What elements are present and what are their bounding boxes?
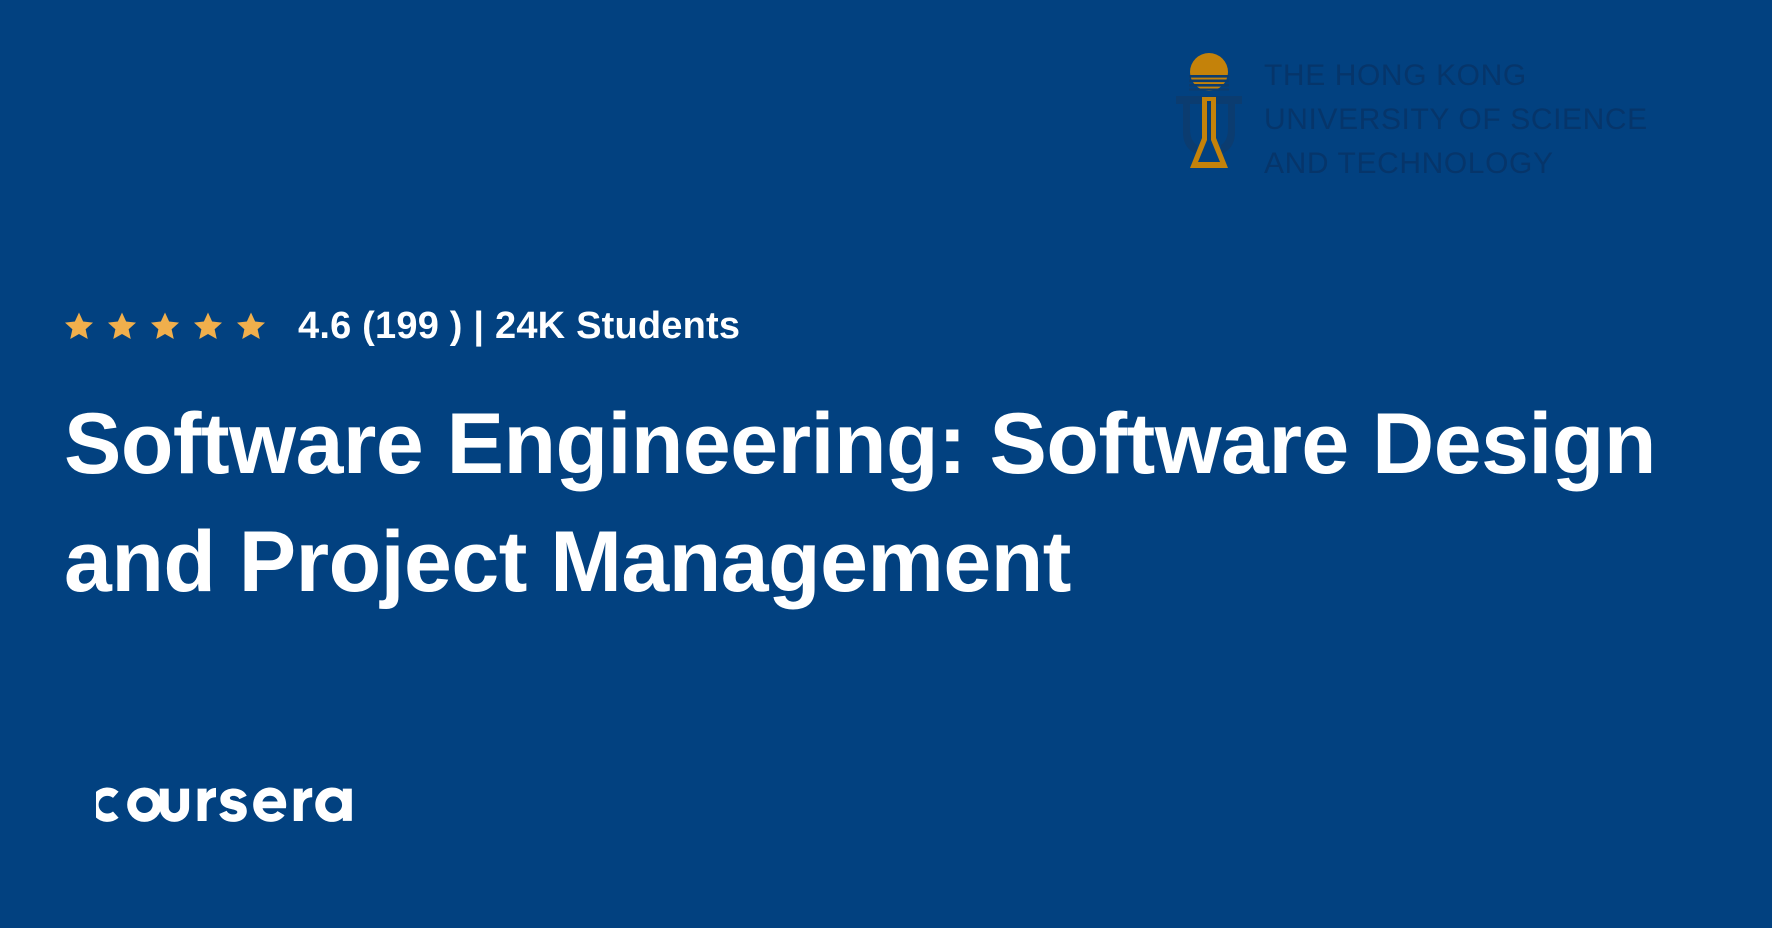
course-banner: THE HONG KONG UNIVERSITY OF SCIENCE AND … (0, 0, 1772, 928)
course-title: Software Engineering: Software Design an… (64, 385, 1674, 621)
star-icon (107, 311, 137, 341)
university-wordmark-line-2: UNIVERSITY OF SCIENCE (1264, 98, 1648, 142)
rating-row: 4.6 (199 ) | 24K Students (64, 303, 740, 349)
university-wordmark: THE HONG KONG UNIVERSITY OF SCIENCE AND … (1264, 48, 1648, 186)
star-icon (150, 311, 180, 341)
university-logo: THE HONG KONG UNIVERSITY OF SCIENCE AND … (1172, 48, 1652, 180)
star-icon (193, 311, 223, 341)
star-icon (64, 311, 94, 341)
university-wordmark-line-1: THE HONG KONG (1264, 54, 1648, 98)
university-wordmark-line-3: AND TECHNOLOGY (1264, 142, 1648, 186)
hkust-emblem-icon (1172, 48, 1246, 180)
coursera-wordmark-icon[interactable] (96, 777, 358, 825)
rating-summary-text: 4.6 (199 ) | 24K Students (298, 303, 740, 349)
star-icon (236, 311, 266, 341)
star-rating (64, 311, 266, 341)
